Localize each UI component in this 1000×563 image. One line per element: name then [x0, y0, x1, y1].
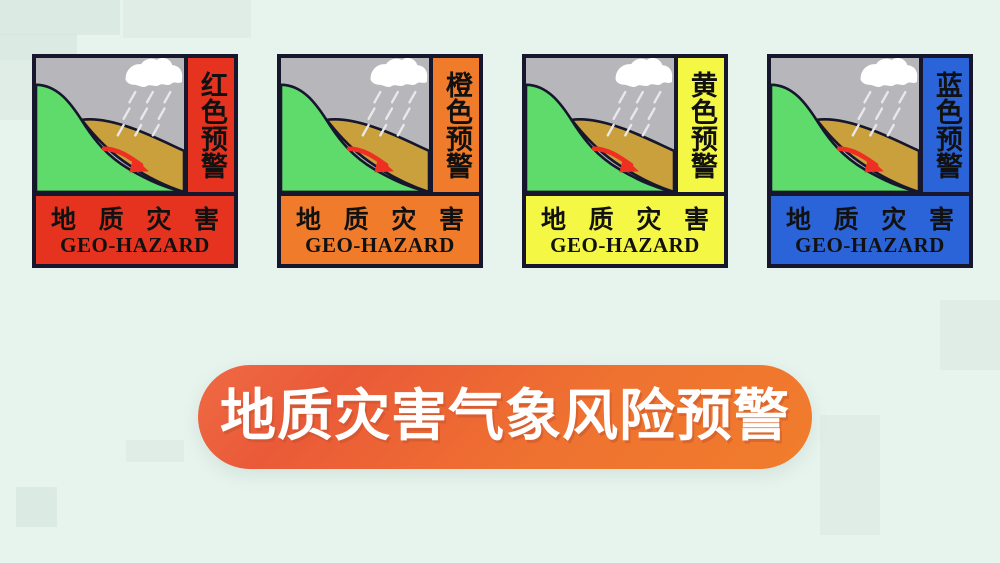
landslide-scene — [36, 58, 188, 192]
hazard-icon-blue-alert[interactable]: 蓝色预警 地 质 灾 害 GEO-HAZARD — [767, 54, 973, 268]
icon-lower-yellow-alert: 地 质 灾 害 GEO-HAZARD — [526, 196, 724, 264]
hazard-label-cn: 地 质 灾 害 — [534, 206, 716, 234]
icon-lower-orange-alert: 地 质 灾 害 GEO-HAZARD — [281, 196, 479, 264]
level-label-text: 蓝色预警 — [932, 71, 960, 179]
landslide-scene-svg — [771, 58, 919, 192]
icon-lower-blue-alert: 地 质 灾 害 GEO-HAZARD — [771, 196, 969, 264]
icon-upper-blue-alert: 蓝色预警 — [771, 58, 969, 196]
hazard-icon-row: 红色预警 地 质 灾 害 GEO-HAZARD — [0, 0, 1000, 300]
hazard-label-cn: 地 质 灾 害 — [779, 206, 961, 234]
landslide-scene-svg — [36, 58, 184, 192]
hazard-icon-yellow-alert[interactable]: 黄色预警 地 质 灾 害 GEO-HAZARD — [522, 54, 728, 268]
landslide-scene-svg — [526, 58, 674, 192]
hazard-icon-red-alert[interactable]: 红色预警 地 质 灾 害 GEO-HAZARD — [32, 54, 238, 268]
landslide-scene — [281, 58, 433, 192]
hazard-label-en: GEO-HAZARD — [795, 234, 945, 256]
landslide-scene — [526, 58, 678, 192]
bg-decor-block — [126, 440, 184, 462]
hazard-label-en: GEO-HAZARD — [550, 234, 700, 256]
hazard-label-en: GEO-HAZARD — [60, 234, 210, 256]
hazard-label-cn: 地 质 灾 害 — [289, 206, 471, 234]
level-label-text: 橙色预警 — [442, 71, 470, 179]
level-strip-yellow-alert: 黄色预警 — [678, 58, 724, 192]
banner-title-text: 地质灾害气象风险预警 — [220, 389, 790, 445]
icon-upper-red-alert: 红色预警 — [36, 58, 234, 196]
hazard-label-cn: 地 质 灾 害 — [44, 206, 226, 234]
level-strip-blue-alert: 蓝色预警 — [923, 58, 969, 192]
level-label-text: 红色预警 — [197, 71, 225, 179]
icon-upper-yellow-alert: 黄色预警 — [526, 58, 724, 196]
icon-lower-red-alert: 地 质 灾 害 GEO-HAZARD — [36, 196, 234, 264]
hazard-label-en: GEO-HAZARD — [305, 234, 455, 256]
level-label-text: 黄色预警 — [687, 71, 715, 179]
icon-upper-orange-alert: 橙色预警 — [281, 58, 479, 196]
title-banner: 地质灾害气象风险预警 — [198, 365, 812, 469]
level-strip-red-alert: 红色预警 — [188, 58, 234, 192]
level-strip-orange-alert: 橙色预警 — [433, 58, 479, 192]
bg-decor-block — [16, 487, 57, 527]
bg-decor-block — [940, 300, 1000, 370]
landslide-scene-svg — [281, 58, 429, 192]
bg-decor-block — [820, 415, 880, 535]
hazard-icon-orange-alert[interactable]: 橙色预警 地 质 灾 害 GEO-HAZARD — [277, 54, 483, 268]
landslide-scene — [771, 58, 923, 192]
